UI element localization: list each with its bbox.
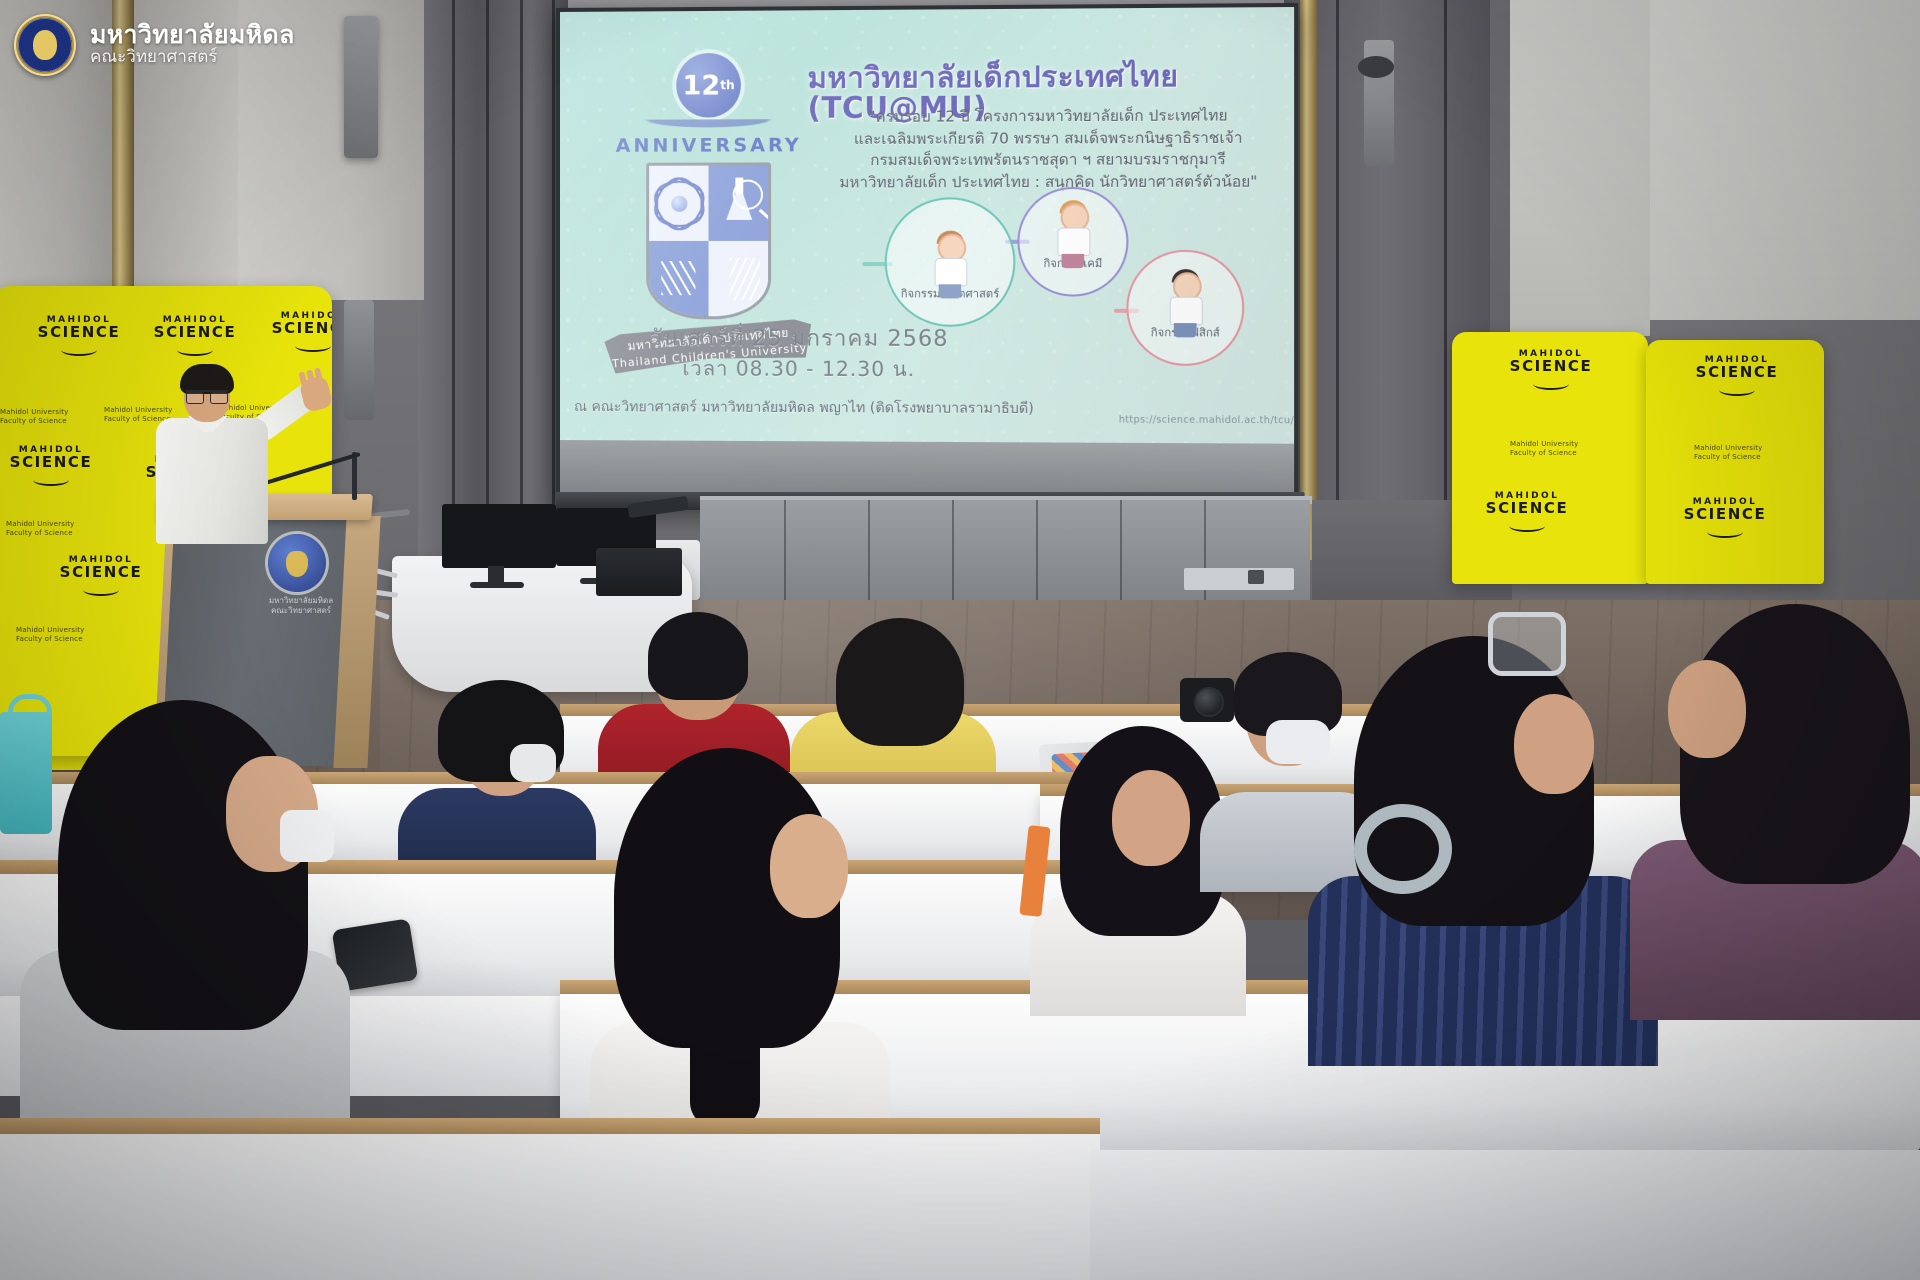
banner-microtext: Mahidol University Faculty of Science [16, 626, 85, 644]
swoosh-icon [83, 584, 119, 596]
attendee-foreground-left [30, 700, 340, 1120]
wall-slats-left [418, 0, 568, 560]
swoosh-icon [1509, 520, 1545, 532]
swoosh-icon [33, 474, 69, 486]
banner-microtext: Mahidol University Faculty of Science [0, 408, 69, 426]
wall-seam [1336, 0, 1339, 560]
banner-logo: MAHIDOL SCIENCE [1692, 356, 1782, 396]
slide-surface: 12th ANNIVERSARY [560, 7, 1294, 444]
attendee-head [1514, 694, 1594, 794]
banner-logo: MAHIDOL SCIENCE [1680, 498, 1770, 538]
screen-glare [560, 7, 1294, 444]
cabinet-panel-light [1184, 568, 1294, 590]
banner-microtext: Mahidol University Faculty of Science [6, 520, 75, 538]
overlay-faculty-name: คณะวิทยาศาสตร์ [90, 48, 295, 68]
speaker-person [150, 360, 340, 540]
banner-logo: MAHIDOL SCIENCE [1506, 350, 1596, 390]
security-camera [1358, 56, 1394, 78]
attendee-head [1668, 660, 1746, 758]
swoosh-icon [1719, 384, 1755, 396]
wall-panel-white-far-right [1650, 0, 1920, 320]
attendee-striped-shirt [1318, 636, 1648, 1056]
hair-tie [1354, 804, 1452, 894]
wall-seam [520, 0, 523, 560]
attendee-center-front [590, 748, 900, 1148]
banner-microtext: Mahidol University Faculty of Science [1694, 444, 1763, 462]
dslr-camera [1180, 678, 1234, 722]
overlay-brand: มหาวิทยาลัยมหิดล คณะวิทยาศาสตร์ [14, 14, 295, 76]
wall-seam [452, 0, 455, 560]
roll-up-banner-right: MAHIDOL SCIENCE Mahidol University Facul… [1452, 332, 1648, 584]
speaker-shirt [156, 418, 268, 544]
projection-screen: 12th ANNIVERSARY [556, 3, 1298, 513]
banner-logo: MAHIDOL SCIENCE [268, 312, 332, 352]
cabinet-control [1248, 570, 1264, 584]
wall-seam [552, 0, 555, 560]
bench-front-panel-lower [0, 1130, 1100, 1280]
wall-seam [486, 0, 489, 560]
monitor-left [442, 504, 556, 568]
speaker-glasses [186, 390, 228, 402]
ponytail [690, 1000, 760, 1128]
bench-edge-lower [0, 1118, 1100, 1134]
podium-seal [268, 534, 326, 592]
gold-trim-right [1300, 0, 1318, 560]
face-mask [280, 810, 334, 862]
bench-front-panel-lower-right [1090, 1150, 1920, 1280]
wall-speaker-left [344, 16, 378, 158]
podium-caption-line2: คณะวิทยาศาสตร์ [246, 606, 356, 616]
swoosh-icon [295, 340, 331, 352]
banner-logo: MAHIDOL SCIENCE [6, 446, 96, 486]
podium-caption-line1: มหาวิทยาลัยมหิดล [246, 596, 356, 606]
attendee-far-right [1640, 604, 1920, 1004]
microphone-stem [352, 452, 357, 500]
attendee-hair [836, 618, 964, 746]
wall-speaker-left-lower [344, 300, 374, 420]
lecture-hall-photo: 12th ANNIVERSARY [0, 0, 1920, 1280]
swoosh-icon [177, 344, 213, 356]
banner-logo: MAHIDOL SCIENCE [1482, 492, 1572, 532]
banner-logo: MAHIDOL SCIENCE [34, 316, 124, 356]
safety-glasses [1488, 612, 1566, 676]
laptop [596, 548, 682, 596]
banner-microtext: Mahidol University Faculty of Science [1510, 440, 1579, 458]
swoosh-icon [1707, 526, 1743, 538]
face-mask [510, 744, 556, 782]
roll-up-banner-far-right: MAHIDOL SCIENCE Mahidol University Facul… [1646, 340, 1824, 584]
cabinet-run [700, 500, 1310, 606]
mahidol-university-seal-icon [14, 14, 76, 76]
attendee-hair [648, 612, 748, 700]
banner-logo: MAHIDOL SCIENCE [150, 316, 240, 356]
wall-panel-white-right [1510, 0, 1650, 336]
swoosh-icon [61, 344, 97, 356]
banner-logo: MAHIDOL SCIENCE [56, 556, 146, 596]
overlay-brand-text: มหาวิทยาลัยมหิดล คณะวิทยาศาสตร์ [90, 22, 295, 68]
overlay-university-name: มหาวิทยาลัยมหิดล [90, 22, 295, 48]
attendee-head [1112, 770, 1190, 866]
swoosh-icon [1533, 378, 1569, 390]
monitor-base-left [470, 582, 524, 588]
attendee-front-left [398, 680, 598, 870]
podium-caption: มหาวิทยาลัยมหิดล คณะวิทยาศาสตร์ [246, 596, 356, 617]
attendee-head [770, 814, 848, 918]
